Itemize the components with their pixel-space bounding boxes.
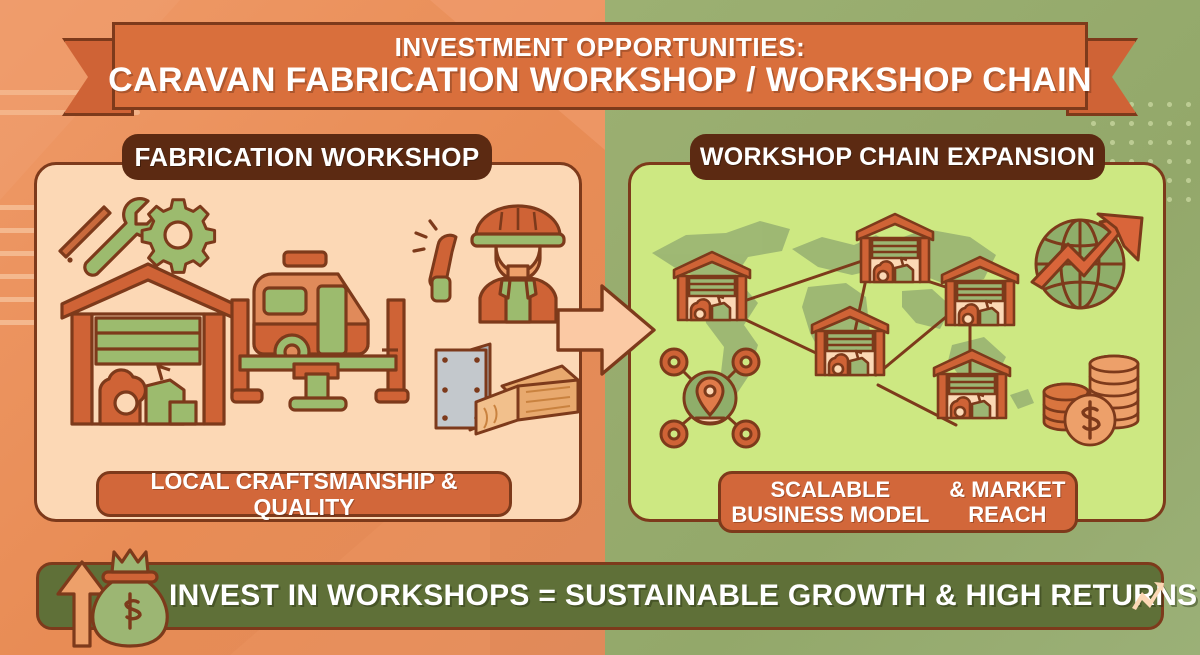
footer-banner: INVEST IN WORKSHOPS = SUSTAINABLE GROWTH… [36, 562, 1164, 630]
title-ribbon: INVESTMENT OPPORTUNITIES: CARAVAN FABRIC… [62, 22, 1138, 117]
left-panel-title: FABRICATION WORKSHOP [122, 134, 492, 180]
banner-line-2: CARAVAN FABRICATION WORKSHOP / WORKSHOP … [108, 61, 1092, 99]
footer-icon-group [44, 548, 174, 648]
money-bag-dollar-icon [93, 550, 167, 646]
left-panel-caption: LOCAL CRAFTSMANSHIP & QUALITY [96, 471, 512, 517]
caravan-on-lift-icon [232, 252, 422, 417]
growth-chart-icon [1130, 582, 1164, 612]
coin-stack-dollar-icon [1038, 340, 1148, 448]
network-hub-pin-icon [654, 344, 766, 448]
workshop-node-icon[interactable] [940, 255, 1020, 327]
workshop-node-icon[interactable] [672, 250, 752, 322]
banner-line-1: INVESTMENT OPPORTUNITIES: [395, 33, 806, 61]
footer-text: INVEST IN WORKSHOPS = SUSTAINABLE GROWTH… [169, 579, 1198, 613]
right-caption-line-2: & MARKET REACH [940, 477, 1075, 528]
right-panel-title: WORKSHOP CHAIN EXPANSION [690, 134, 1105, 180]
right-panel-caption: SCALABLE BUSINESS MODEL & MARKET REACH [718, 471, 1078, 533]
workshop-node-icon[interactable] [855, 212, 935, 284]
workshop-node-icon[interactable] [810, 305, 890, 377]
globe-growth-arrow-icon [1030, 212, 1148, 318]
workshop-garage-icon [58, 262, 238, 427]
infographic-canvas: INVESTMENT OPPORTUNITIES: CARAVAN FABRIC… [0, 0, 1200, 655]
right-caption-line-1: SCALABLE BUSINESS MODEL [721, 477, 940, 528]
ribbon-body: INVESTMENT OPPORTUNITIES: CARAVAN FABRIC… [112, 22, 1088, 110]
workshop-node-icon[interactable] [932, 348, 1012, 420]
right-arrow-icon [556, 282, 656, 378]
